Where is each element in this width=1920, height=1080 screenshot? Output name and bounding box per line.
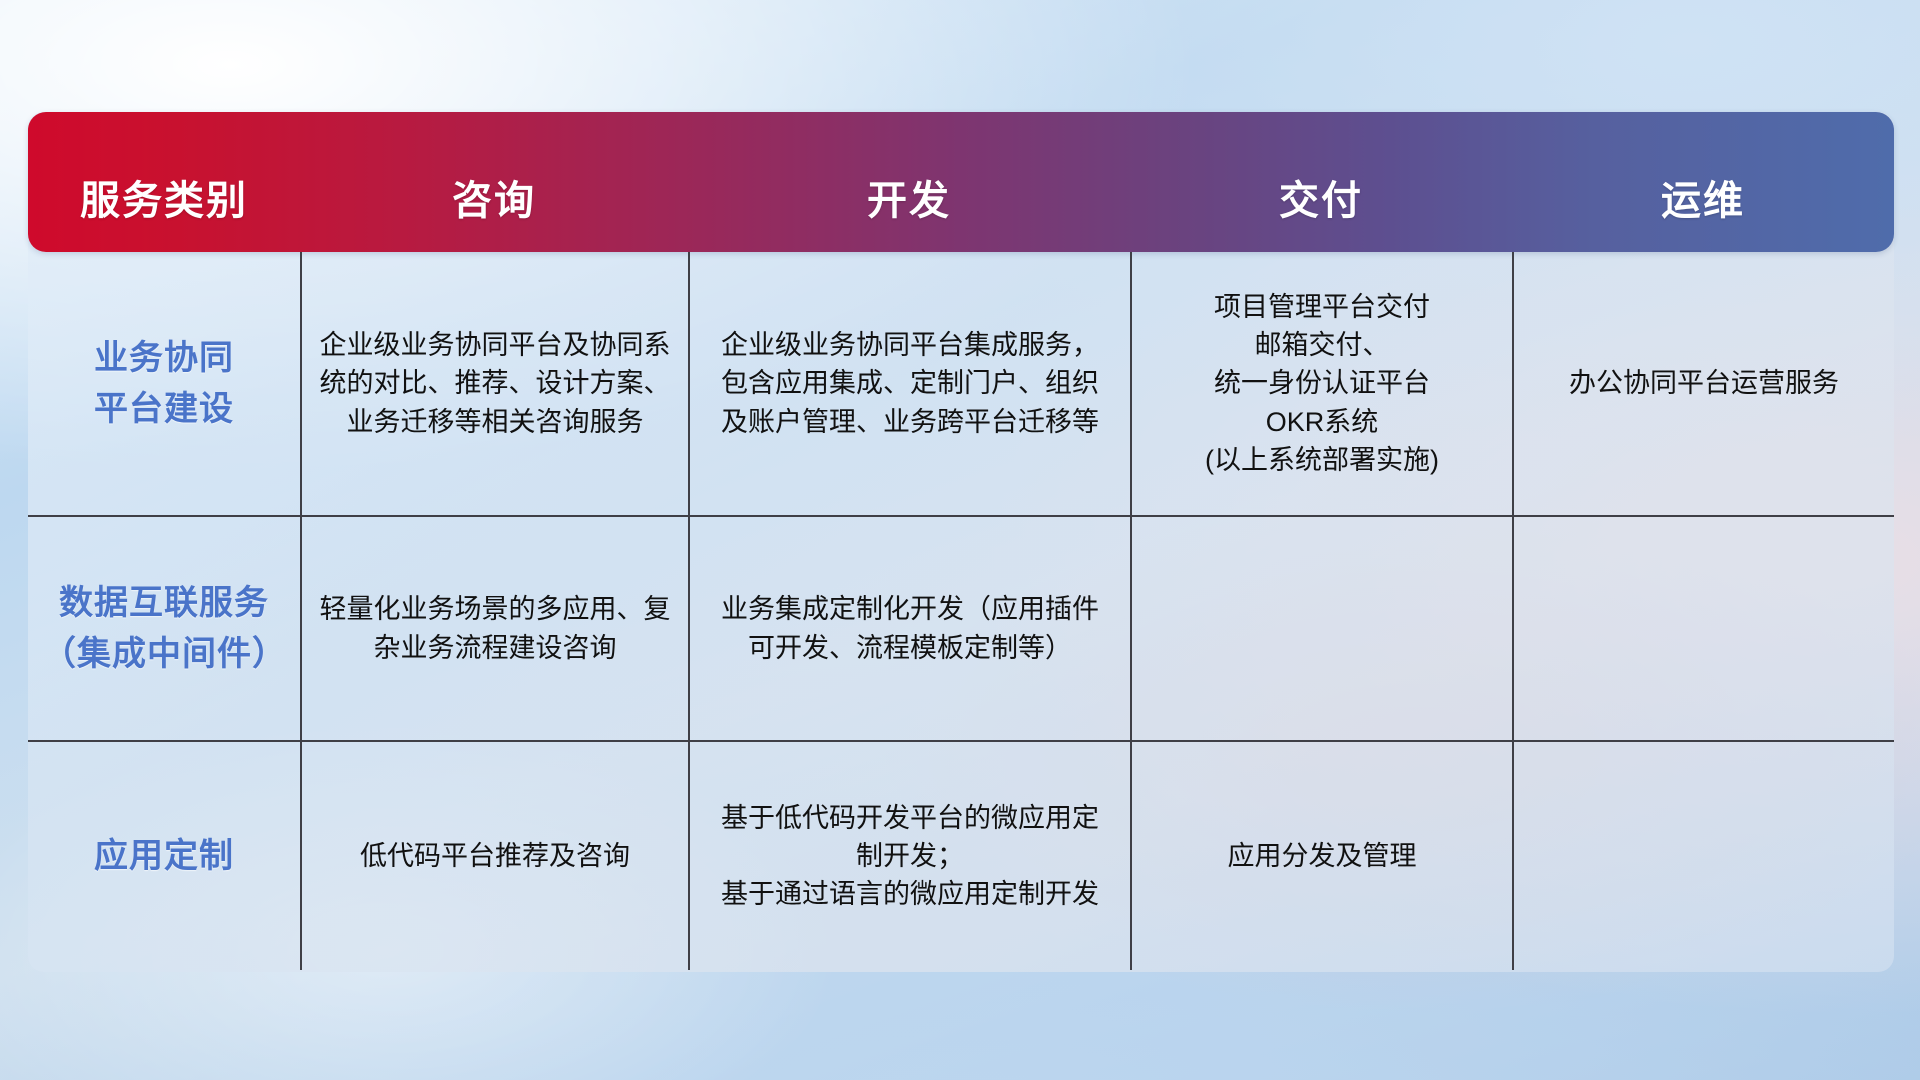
cell-delivery: 应用分发及管理 xyxy=(1130,742,1512,970)
cell-operations xyxy=(1512,517,1894,740)
column-header-delivery: 交付 xyxy=(1130,168,1512,252)
cell-delivery: 项目管理平台交付 邮箱交付、 统一身份认证平台 OKR系统 (以上系统部署实施) xyxy=(1130,252,1512,515)
row-category-label: 应用定制 xyxy=(28,742,300,970)
row-category-label: 数据互联服务 （集成中间件） xyxy=(28,517,300,740)
column-header-consulting: 咨询 xyxy=(300,168,688,252)
cell-operations: 办公协同平台运营服务 xyxy=(1512,252,1894,515)
table-header-row: 服务类别 咨询 开发 交付 运维 xyxy=(28,112,1894,252)
cell-development: 业务集成定制化开发（应用插件 可开发、流程模板定制等） xyxy=(688,517,1130,740)
service-matrix-table: 服务类别 咨询 开发 交付 运维 业务协同 平台建设 企业级业务协同平台及协同系… xyxy=(28,112,1894,972)
table-body: 业务协同 平台建设 企业级业务协同平台及协同系 统的对比、推荐、设计方案、 业务… xyxy=(28,252,1894,972)
cell-development: 企业级业务协同平台集成服务， 包含应用集成、定制门户、组织 及账户管理、业务跨平… xyxy=(688,252,1130,515)
table-row: 业务协同 平台建设 企业级业务协同平台及协同系 统的对比、推荐、设计方案、 业务… xyxy=(28,252,1894,517)
column-header-category: 服务类别 xyxy=(28,168,300,252)
column-header-operations: 运维 xyxy=(1512,168,1894,252)
cell-operations xyxy=(1512,742,1894,970)
cell-consulting: 企业级业务协同平台及协同系 统的对比、推荐、设计方案、 业务迁移等相关咨询服务 xyxy=(300,252,688,515)
row-category-label: 业务协同 平台建设 xyxy=(28,252,300,515)
column-header-development: 开发 xyxy=(688,168,1130,252)
table-row: 应用定制 低代码平台推荐及咨询 基于低代码开发平台的微应用定 制开发； 基于通过… xyxy=(28,742,1894,970)
cell-consulting: 低代码平台推荐及咨询 xyxy=(300,742,688,970)
cell-consulting: 轻量化业务场景的多应用、复 杂业务流程建设咨询 xyxy=(300,517,688,740)
cell-delivery xyxy=(1130,517,1512,740)
cell-development: 基于低代码开发平台的微应用定 制开发； 基于通过语言的微应用定制开发 xyxy=(688,742,1130,970)
table-row: 数据互联服务 （集成中间件） 轻量化业务场景的多应用、复 杂业务流程建设咨询 业… xyxy=(28,517,1894,742)
